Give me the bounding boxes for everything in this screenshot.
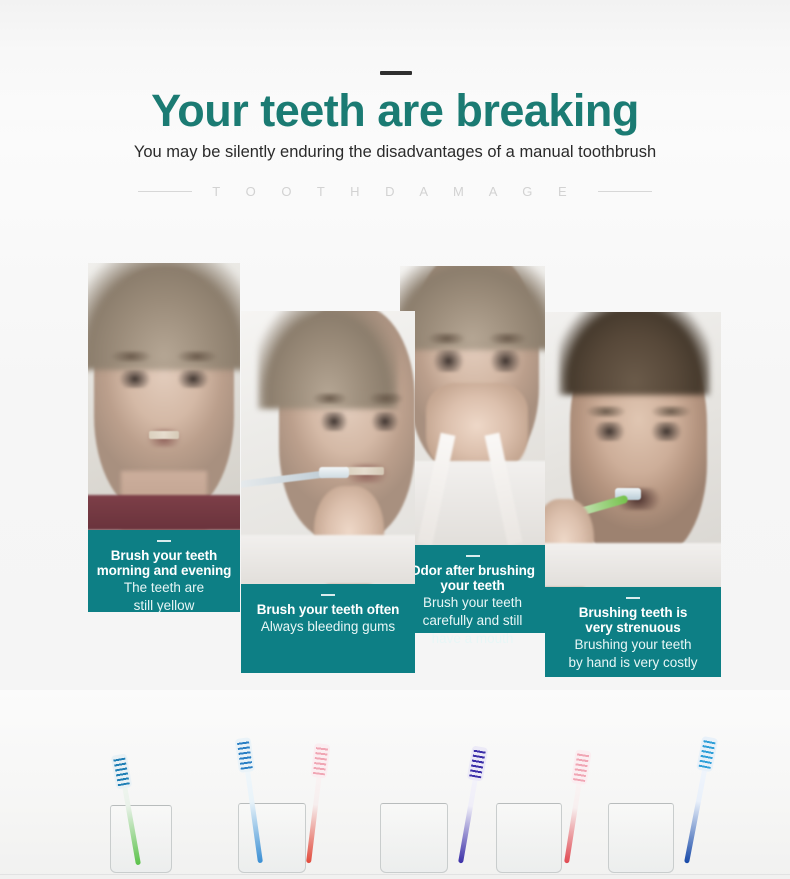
card-1-photo xyxy=(88,263,240,530)
toothbrush-purple xyxy=(440,745,500,866)
card-3-title-line2: your teeth xyxy=(406,578,539,593)
card-4-caption: Brushing teeth is very strenuous Brushin… xyxy=(545,587,721,677)
card-3-title-line1: Odor after brushing xyxy=(406,563,539,578)
card-2-sub-line1: Always bleeding gums xyxy=(247,619,409,635)
card-3-photo xyxy=(400,266,545,545)
toothbrush-red xyxy=(546,749,603,866)
card-1-title-line1: Brush your teeth xyxy=(94,548,234,563)
card-1-sub-line1: The teeth are xyxy=(94,580,234,596)
card-3-sub-line2: carefully and still xyxy=(406,613,539,629)
card-1-title-line2: morning and evening xyxy=(94,563,234,578)
floor-line xyxy=(0,874,790,875)
toothbrush-navy xyxy=(666,735,729,866)
card-2-title-line1: Brush your teeth often xyxy=(247,602,409,617)
card-3-caption: Odor after brushing your teeth Brush you… xyxy=(400,545,545,633)
toothbrush-cups-photo xyxy=(0,690,790,879)
card-4-title-line1: Brushing teeth is xyxy=(551,605,715,620)
promo-page: Your teeth are breaking You may be silen… xyxy=(0,0,790,879)
problem-cards: Brush your teeth morning and evening The… xyxy=(0,0,790,690)
card-4-title-line2: very strenuous xyxy=(551,620,715,635)
card-2-photo xyxy=(241,311,415,584)
card-1-sub-line2: still yellow xyxy=(94,598,234,614)
card-3-sub-line1: Brush your teeth xyxy=(406,595,539,611)
card-3-sub-line3: have a mouth xyxy=(406,631,539,647)
toothbrush-green xyxy=(99,753,157,868)
toothbrush-blue xyxy=(223,737,280,865)
card-4-sub-line2: by hand is very costly xyxy=(551,655,715,671)
toothbrush-pink xyxy=(288,743,342,865)
caption-dash-icon xyxy=(157,540,171,542)
caption-dash-icon xyxy=(626,597,640,599)
caption-dash-icon xyxy=(321,594,335,596)
card-2-caption: Brush your teeth often Always bleeding g… xyxy=(241,584,415,673)
caption-dash-icon xyxy=(466,555,480,557)
glass-cup-3 xyxy=(380,803,448,873)
glass-cup-5 xyxy=(608,803,674,873)
card-4-sub-line1: Brushing your teeth xyxy=(551,637,715,653)
card-4-photo xyxy=(545,312,721,587)
card-1-caption: Brush your teeth morning and evening The… xyxy=(88,530,240,612)
